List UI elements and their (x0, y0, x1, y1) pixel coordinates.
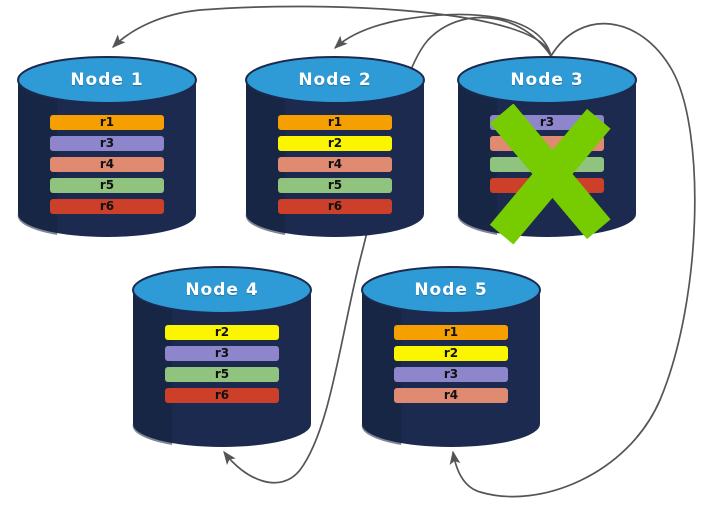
node-4[interactable]: Node 4r2r3r5r6 (133, 267, 311, 447)
node-3-replica-slot-2[interactable] (490, 136, 604, 151)
node-2-top-cap (246, 57, 424, 103)
node-4-replica-r2[interactable]: r2 (165, 325, 279, 340)
node-4-replica-list: r2r3r5r6 (133, 325, 311, 403)
node-2-replica-list: r1r2r4r5r6 (246, 115, 424, 214)
node-5-replica-r1[interactable]: r1 (394, 325, 508, 340)
node-5-replica-r3[interactable]: r3 (394, 367, 508, 382)
diagram-canvas: Node 1r1r3r4r5r6Node 2r1r2r4r5r6Node 3r3… (0, 0, 708, 508)
node-1[interactable]: Node 1r1r3r4r5r6 (18, 57, 196, 237)
node-2-replica-r2[interactable]: r2 (278, 136, 392, 151)
node-layer: Node 1r1r3r4r5r6Node 2r1r2r4r5r6Node 3r3… (0, 0, 708, 508)
node-3-replica-list: r3 (458, 115, 636, 193)
node-3-replica-slot-4[interactable] (490, 178, 604, 193)
node-3-top-cap (458, 57, 636, 103)
node-4-top-cap (133, 267, 311, 313)
node-3-replica-r3[interactable]: r3 (490, 115, 604, 130)
node-1-replica-r4[interactable]: r4 (50, 157, 164, 172)
node-1-replica-list: r1r3r4r5r6 (18, 115, 196, 214)
node-5[interactable]: Node 5r1r2r3r4 (362, 267, 540, 447)
node-2[interactable]: Node 2r1r2r4r5r6 (246, 57, 424, 237)
node-5-replica-list: r1r2r3r4 (362, 325, 540, 403)
node-4-replica-r6[interactable]: r6 (165, 388, 279, 403)
node-4-replica-r5[interactable]: r5 (165, 367, 279, 382)
node-2-replica-r1[interactable]: r1 (278, 115, 392, 130)
node-2-replica-r4[interactable]: r4 (278, 157, 392, 172)
node-2-replica-r5[interactable]: r5 (278, 178, 392, 193)
node-5-top-cap (362, 267, 540, 313)
node-3-replica-slot-3[interactable] (490, 157, 604, 172)
node-1-replica-r1[interactable]: r1 (50, 115, 164, 130)
node-1-replica-r5[interactable]: r5 (50, 178, 164, 193)
node-1-replica-r6[interactable]: r6 (50, 199, 164, 214)
node-1-top-cap (18, 57, 196, 103)
node-5-replica-r2[interactable]: r2 (394, 346, 508, 361)
node-5-replica-r4[interactable]: r4 (394, 388, 508, 403)
node-3[interactable]: Node 3r3 (458, 57, 636, 237)
node-2-replica-r6[interactable]: r6 (278, 199, 392, 214)
node-1-replica-r3[interactable]: r3 (50, 136, 164, 151)
node-4-replica-r3[interactable]: r3 (165, 346, 279, 361)
